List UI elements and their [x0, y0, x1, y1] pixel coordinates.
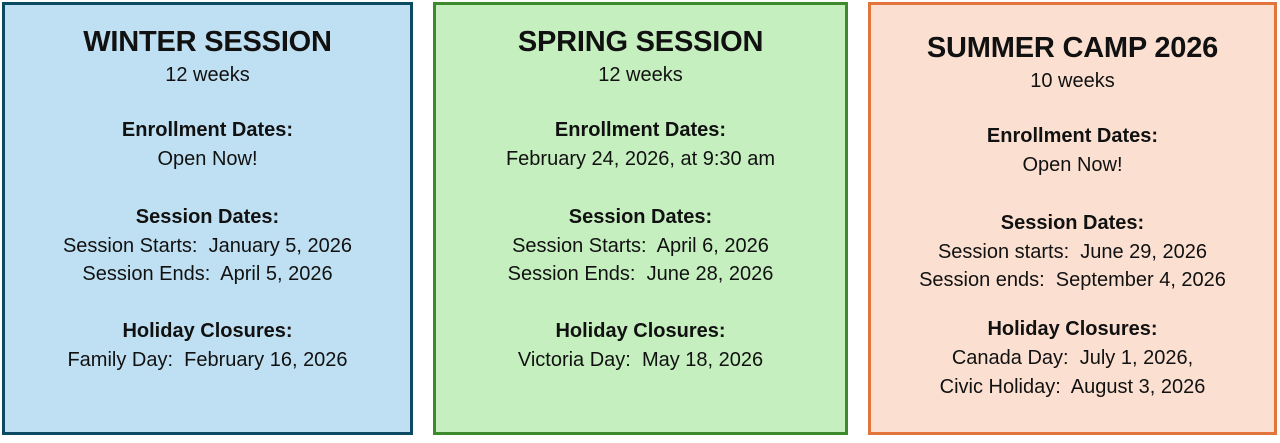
session-start-line: Session Starts: January 5, 2026	[63, 232, 352, 260]
holiday-closures-heading: Holiday Closures:	[940, 316, 1206, 342]
session-end-line: Session ends: September 4, 2026	[919, 266, 1226, 294]
card-gap-1	[413, 0, 433, 443]
enrollment-line-1: February 24, 2026, at 9:30 am	[506, 145, 775, 173]
holiday-line-1: Canada Day: July 1, 2026,	[940, 344, 1206, 372]
card-duration: 10 weeks	[1030, 70, 1115, 93]
session-end-line: Session Ends: June 28, 2026	[508, 260, 774, 288]
session-cards-row: WINTER SESSION 12 weeks Enrollment Dates…	[0, 0, 1280, 443]
session-dates-section: Session Dates: Session starts: June 29, …	[919, 210, 1226, 295]
card-title: SUMMER CAMP 2026	[927, 33, 1218, 64]
session-card-summer: SUMMER CAMP 2026 10 weeks Enrollment Dat…	[868, 2, 1277, 435]
card-duration: 12 weeks	[165, 64, 250, 87]
enrollment-line-1: Open Now!	[987, 151, 1158, 179]
holiday-line-2: Civic Holiday: August 3, 2026	[940, 373, 1206, 401]
session-card-winter: WINTER SESSION 12 weeks Enrollment Dates…	[2, 2, 413, 435]
session-dates-section: Session Dates: Session Starts: April 6, …	[508, 204, 774, 289]
enrollment-heading: Enrollment Dates:	[122, 117, 293, 143]
card-duration: 12 weeks	[598, 64, 683, 87]
holiday-closures-section: Holiday Closures: Family Day: February 1…	[67, 318, 347, 374]
session-card-spring: SPRING SESSION 12 weeks Enrollment Dates…	[433, 2, 848, 435]
holiday-closures-section: Holiday Closures: Victoria Day: May 18, …	[518, 318, 763, 374]
session-dates-section: Session Dates: Session Starts: January 5…	[63, 204, 352, 289]
session-start-line: Session Starts: April 6, 2026	[508, 232, 774, 260]
session-dates-heading: Session Dates:	[919, 210, 1226, 236]
session-dates-heading: Session Dates:	[63, 204, 352, 230]
card-gap-2	[848, 0, 868, 443]
holiday-closures-heading: Holiday Closures:	[518, 318, 763, 344]
card-title: SPRING SESSION	[518, 27, 763, 58]
enrollment-heading: Enrollment Dates:	[506, 117, 775, 143]
enrollment-section: Enrollment Dates: February 24, 2026, at …	[506, 117, 775, 173]
enrollment-line-1: Open Now!	[122, 145, 293, 173]
holiday-closures-heading: Holiday Closures:	[67, 318, 347, 344]
holiday-closures-section: Holiday Closures: Canada Day: July 1, 20…	[940, 316, 1206, 401]
holiday-line-1: Family Day: February 16, 2026	[67, 346, 347, 374]
card-title: WINTER SESSION	[83, 27, 332, 58]
session-end-line: Session Ends: April 5, 2026	[63, 260, 352, 288]
holiday-line-1: Victoria Day: May 18, 2026	[518, 346, 763, 374]
enrollment-heading: Enrollment Dates:	[987, 123, 1158, 149]
session-dates-heading: Session Dates:	[508, 204, 774, 230]
session-start-line: Session starts: June 29, 2026	[919, 238, 1226, 266]
enrollment-section: Enrollment Dates: Open Now!	[987, 123, 1158, 179]
enrollment-section: Enrollment Dates: Open Now!	[122, 117, 293, 173]
